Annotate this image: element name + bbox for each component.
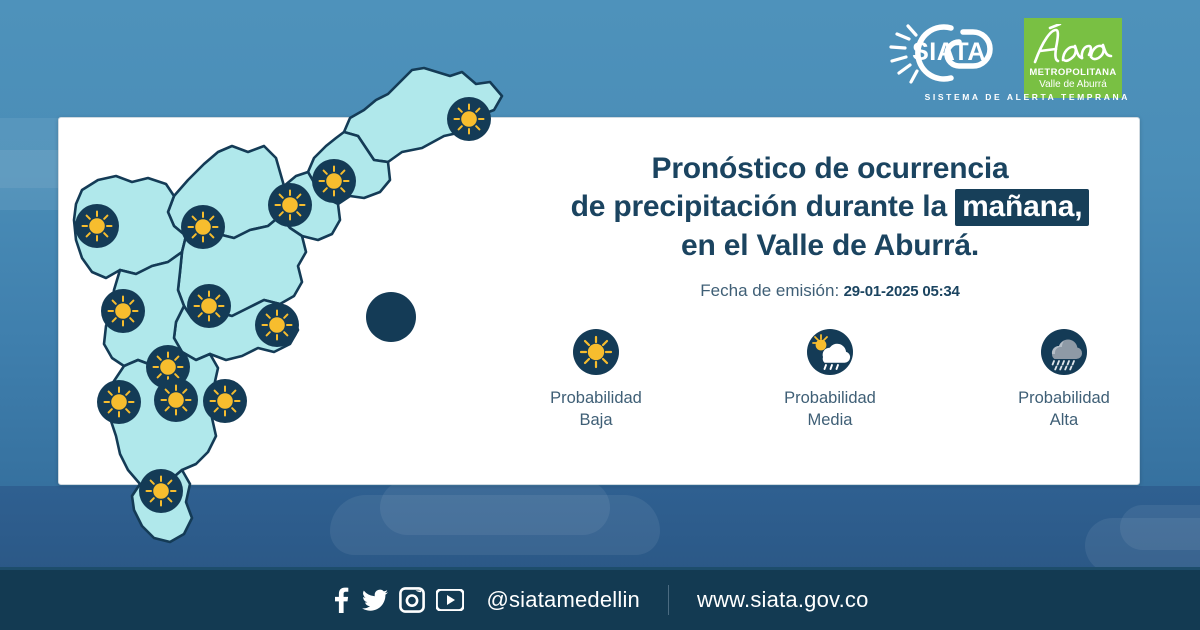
sun-icon [97,380,141,424]
sun-icon [75,204,119,248]
legend-item-media: Probabilidad Media [755,329,905,432]
siata-logo: SIATA [889,18,1014,90]
legend-label-alta: Probabilidad Alta [1018,387,1110,432]
sun-icon [573,329,619,375]
legend-label-line1: Probabilidad [1018,387,1110,409]
svg-text:SIATA: SIATA [912,38,986,66]
siata-tagline: SISTEMA DE ALERTA TEMPRANA [925,92,1130,102]
title-line-2: de precipitación durante la mañana, [520,188,1140,226]
title-line-1: Pronóstico de ocurrencia [520,150,1140,188]
footer-bar: @siatamedellin www.siata.gov.co [0,570,1200,630]
legend-label-baja: Probabilidad Baja [550,387,642,432]
social-handle[interactable]: @siatamedellin [486,587,640,613]
legend-item-alta: Probabilidad Alta [989,329,1139,432]
title-line-2-text: de precipitación durante la [571,190,956,223]
footer-divider [668,585,669,615]
area-logo-line2: Valle de Aburrá [1039,79,1107,91]
title-line-3: en el Valle de Aburrá. [520,227,1140,265]
area-logo-line1: METROPOLITANA [1029,68,1116,79]
sun-icon [139,469,183,513]
background-cloud-icon [1120,505,1200,550]
social-links [331,587,464,613]
issue-date-row: Fecha de emisión: 29-01-2025 05:34 [520,281,1140,301]
instagram-icon[interactable] [399,587,425,613]
legend-label-line2: Alta [1018,409,1110,431]
compass-north-icon: N [366,292,416,342]
logo-group: SIATA METROPOLITANA Valle de Aburrá [889,18,1122,98]
sun-icon [187,284,231,328]
sun-behind-rain-cloud-icon [807,329,853,375]
issue-date-label: Fecha de emisión: [700,281,839,300]
legend-label-line1: Probabilidad [784,387,876,409]
youtube-icon[interactable] [436,589,464,611]
sun-icon [203,379,247,423]
sun-icon [312,159,356,203]
probability-legend: Probabilidad Baja [520,329,1140,432]
compass-disc [366,292,416,342]
sun-icon [447,97,491,141]
website-link[interactable]: www.siata.gov.co [697,587,869,613]
siata-sun-cloud-icon: SIATA [889,18,1014,90]
forecast-panel: Pronóstico de ocurrencia de precipitació… [520,150,1140,432]
legend-label-line1: Probabilidad [550,387,642,409]
area-metropolitana-logo: METROPOLITANA Valle de Aburrá [1024,18,1122,98]
sun-icon [154,378,198,422]
sun-icon [101,289,145,333]
area-script-wordmark-icon [1029,24,1117,68]
issue-date-value: 29-01-2025 05:34 [844,283,960,300]
sun-icon [255,303,299,347]
twitter-icon[interactable] [362,587,388,613]
rain-cloud-icon [1041,329,1087,375]
legend-item-baja: Probabilidad Baja [521,329,671,432]
page-title: Pronóstico de ocurrencia de precipitació… [520,150,1140,265]
facebook-icon[interactable] [331,587,351,613]
legend-label-line2: Baja [550,409,642,431]
sun-icon [181,205,225,249]
title-highlight-period: mañana, [955,189,1089,226]
legend-label-line2: Media [784,409,876,431]
valle-de-aburra-map: N [58,40,528,570]
sun-icon [268,183,312,227]
legend-label-media: Probabilidad Media [784,387,876,432]
